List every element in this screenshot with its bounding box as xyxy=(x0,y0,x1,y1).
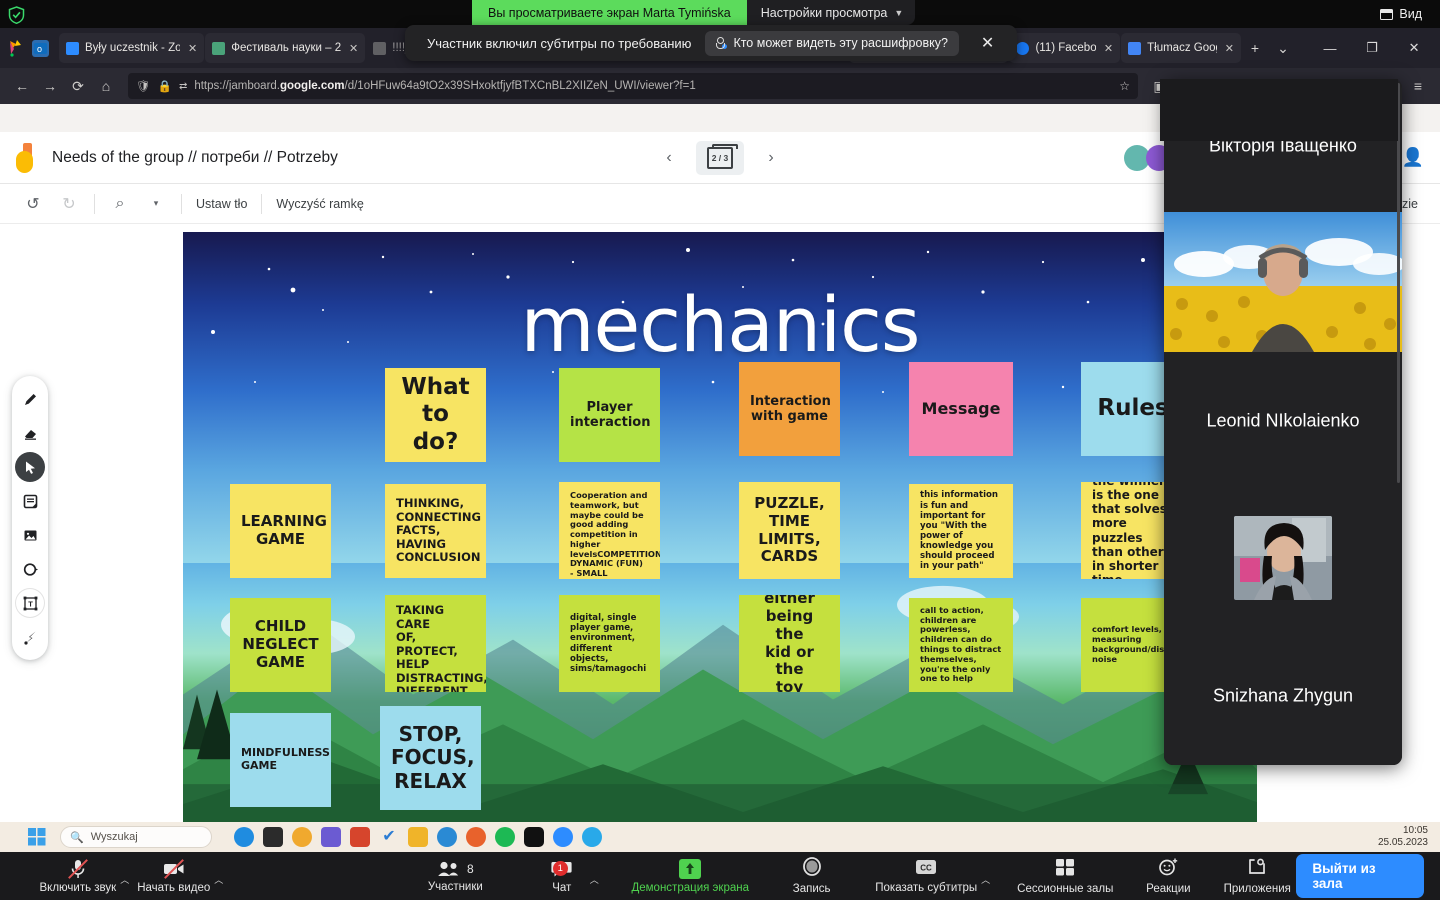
sticky-note-text: Player interaction xyxy=(570,400,649,431)
panel-scrollbar[interactable] xyxy=(1397,83,1400,483)
text-box-icon[interactable]: T xyxy=(15,588,45,618)
sticky-note-text: PUZZLE, TIME LIMITS, CARDS xyxy=(750,495,829,566)
participants-icon: 8 xyxy=(437,860,474,878)
tab-favicon xyxy=(212,42,225,55)
taskbar-clock[interactable]: 10:05 25.05.2023 xyxy=(1378,825,1428,850)
sticky-note[interactable]: PUZZLE, TIME LIMITS, CARDS xyxy=(739,482,840,579)
tab-label: Tłumacz Google xyxy=(1147,42,1217,54)
sticky-note-text: CHILD NEGLECT GAME xyxy=(241,618,320,671)
chat-button[interactable]: 1 Чат xyxy=(532,852,592,900)
view-settings-label: Настройки просмотра xyxy=(761,6,888,20)
tab-close-icon[interactable]: ✕ xyxy=(188,42,197,55)
sticky-note-text: LEARNING GAME xyxy=(241,513,320,548)
reactions-icon xyxy=(1157,857,1179,880)
reactions-label: Реакции xyxy=(1146,883,1190,895)
taskbar-search-input[interactable]: 🔍 Wyszukaj xyxy=(60,826,212,848)
windows-start-icon[interactable] xyxy=(28,828,46,846)
participants-count: 8 xyxy=(467,862,474,876)
sticky-note-text: the winner is the one that solves more p… xyxy=(1092,482,1174,579)
sticky-note[interactable]: Player interaction xyxy=(559,368,660,462)
tab-favicon xyxy=(1016,42,1029,55)
back-arrow-icon[interactable]: ← xyxy=(8,73,36,99)
reload-icon[interactable]: ⟳ xyxy=(64,73,92,99)
redo-icon[interactable]: ↻ xyxy=(58,194,80,214)
toolbar-right-label: zie xyxy=(1402,197,1418,211)
sticky-note[interactable]: CHILD NEGLECT GAME xyxy=(230,598,331,692)
windows-taskbar: 🔍 Wyszukaj ✔ 10:05 25.05.2023 xyxy=(0,822,1440,852)
tab-label: Były uczestnik - Zoom xyxy=(85,42,180,54)
person-add-icon xyxy=(716,37,727,49)
view-settings-button[interactable]: Настройки просмотра ▼ xyxy=(747,0,916,25)
sticky-note[interactable]: MINDFULNESS GAME xyxy=(230,713,331,807)
record-label: Запись xyxy=(793,883,831,895)
spotify-icon[interactable] xyxy=(495,827,515,847)
show-captions-button[interactable]: CC Показать субтитры xyxy=(869,852,983,900)
caption-toast-message: Участник включил субтитры по требованию xyxy=(427,36,691,51)
participant-name: Leonid NIkolaienko xyxy=(1164,410,1402,431)
file-explorer-icon[interactable] xyxy=(408,827,428,847)
close-icon[interactable]: ✕ xyxy=(981,33,994,53)
breakout-rooms-icon xyxy=(1054,857,1076,880)
jamboard-frame-pager: ‹ 2 / 3 › xyxy=(658,141,782,175)
apps-label: Приложения xyxy=(1224,883,1291,895)
sticky-note-text: Interaction with game xyxy=(750,394,829,425)
toolbar-divider xyxy=(261,194,262,214)
start-video-label: Начать видео xyxy=(137,882,210,894)
home-icon[interactable]: ⌂ xyxy=(92,73,120,99)
browser-tab[interactable]: Tłumacz Google ✕ xyxy=(1121,33,1241,63)
svg-text:o: o xyxy=(37,44,42,54)
sharing-status-label: Вы просматриваете экран Marta Tymińska xyxy=(472,0,747,25)
screen-sharing-banner: Вы просматриваете экран Marta Tymińska Н… xyxy=(472,0,915,25)
sticky-note[interactable]: call to action, children are powerless, … xyxy=(909,598,1013,692)
teams-icon[interactable] xyxy=(321,827,341,847)
sticky-note-text: call to action, children are powerless, … xyxy=(920,606,1002,684)
microphone-muted-icon xyxy=(67,859,89,879)
frame-bar-icon: 2 / 3 xyxy=(707,147,733,169)
tab-label: Фестиваль науки – 2022: xyxy=(231,42,341,54)
sticky-note-text: Rules xyxy=(1092,395,1174,422)
participant-name: Snizhana Zhygun xyxy=(1164,686,1402,707)
sticky-note[interactable]: Interaction with game xyxy=(739,362,840,456)
chat-unread-badge: 1 xyxy=(553,861,568,876)
participant-avatar xyxy=(1234,516,1332,600)
zoom-top-bar: Вы просматриваете экран Marta Tymińska Н… xyxy=(0,0,1440,28)
shape-circle-icon[interactable] xyxy=(15,554,45,584)
zoom-icon[interactable] xyxy=(553,827,573,847)
window-close-button[interactable]: ✕ xyxy=(1394,33,1434,63)
zoom-in-icon[interactable]: ⌕ xyxy=(109,195,131,213)
sticky-note[interactable]: TAKING CARE OF, PROTECT, HELP DISTRACTIN… xyxy=(385,595,486,692)
participant-tile[interactable]: Snizhana Zhygun xyxy=(1164,627,1402,765)
apps-button[interactable]: Приложения xyxy=(1218,852,1296,900)
sticky-note-text: either being the kid or the toy xyxy=(750,595,829,692)
camera-muted-icon xyxy=(162,859,186,879)
tab-favicon xyxy=(1128,42,1141,55)
participants-button[interactable]: 8 Участники xyxy=(422,852,488,900)
video-control-group: Начать видео ︿ xyxy=(131,852,225,900)
sticky-note[interactable]: LEARNING GAME xyxy=(230,484,331,578)
window-maximize-button[interactable]: ❐ xyxy=(1352,33,1392,63)
board-title: mechanics xyxy=(183,280,1257,369)
zoom-participant-panel[interactable]: Вікторія Іващенко xyxy=(1164,79,1402,765)
leave-meeting-button[interactable]: Выйти из зала xyxy=(1296,854,1424,898)
sticky-note[interactable]: digital, single player game, environment… xyxy=(559,595,660,692)
participant-tile-active[interactable] xyxy=(1164,212,1402,352)
frame-count-label: 2 / 3 xyxy=(712,153,729,163)
sticky-note[interactable]: Message xyxy=(909,362,1013,456)
forward-arrow-icon[interactable]: → xyxy=(36,73,64,99)
task-view-icon[interactable] xyxy=(263,827,283,847)
reactions-button[interactable]: Реакции xyxy=(1138,852,1198,900)
chat-control-group: 1 Чат ︿ xyxy=(532,852,601,900)
toolbar-divider xyxy=(94,194,95,214)
jamboard-logo-icon xyxy=(16,143,38,173)
address-bar[interactable]: 🛡 🔒 ⇄ https://jamboard.google.com/d/1oHF… xyxy=(128,73,1138,99)
view-button[interactable]: Вид xyxy=(1370,3,1432,25)
sticky-note[interactable]: What to do? xyxy=(385,368,486,462)
frame-indicator[interactable]: 2 / 3 xyxy=(696,141,744,175)
laser-pointer-icon[interactable] xyxy=(15,622,45,652)
sticky-note-text: digital, single player game, environment… xyxy=(570,613,649,674)
new-tab-button[interactable]: + xyxy=(1242,35,1268,61)
sticky-note-text: THINKING, CONNECTING FACTS, HAVING CONCL… xyxy=(396,497,475,565)
hamburger-menu-icon[interactable]: ≡ xyxy=(1404,73,1432,99)
clock-time: 10:05 xyxy=(1378,825,1428,838)
tab-list-chevron-down-icon[interactable]: ⌄ xyxy=(1270,35,1296,61)
participant-tile[interactable]: Leonid NIkolaienko xyxy=(1164,352,1402,489)
closed-captions-icon: CC xyxy=(913,858,939,879)
participants-label: Участники xyxy=(428,881,483,893)
url-text: https://jamboard.google.com/d/1oHFuw64a9… xyxy=(194,80,695,92)
audio-control-group: Включить звук ︿ xyxy=(33,852,131,900)
tab-close-icon[interactable]: ✕ xyxy=(1225,42,1234,55)
toolbar-divider xyxy=(181,194,182,214)
sticky-note[interactable]: Cooperation and teamwork, but maybe coul… xyxy=(559,482,660,579)
undo-icon[interactable]: ↺ xyxy=(22,194,44,214)
jamboard-user-avatar[interactable]: 👤 xyxy=(1402,147,1424,168)
unmute-label: Включить звук xyxy=(39,882,116,894)
participant-video xyxy=(1164,212,1402,352)
cursor-select-icon[interactable] xyxy=(15,452,45,482)
tab-label: (11) Facebook xyxy=(1035,42,1095,54)
participant-tile[interactable] xyxy=(1164,489,1402,627)
sticky-note-text: Message xyxy=(920,400,1002,419)
window-minimize-button[interactable]: — xyxy=(1310,33,1350,63)
bing-chat-icon[interactable] xyxy=(234,827,254,847)
browser-tab[interactable]: Były uczestnik - Zoom ✕ xyxy=(59,33,204,63)
prev-frame-chevron-left-icon[interactable]: ‹ xyxy=(658,149,680,167)
shield-check-icon[interactable] xyxy=(8,6,25,24)
start-video-button[interactable]: Начать видео xyxy=(131,852,216,900)
image-icon[interactable] xyxy=(15,520,45,550)
edge-icon[interactable] xyxy=(437,827,457,847)
sticky-note-text: Cooperation and teamwork, but maybe coul… xyxy=(570,491,649,579)
whatsapp-icon[interactable] xyxy=(524,827,544,847)
sticky-note-text: this information is fun and important fo… xyxy=(920,490,1002,571)
eraser-icon[interactable] xyxy=(15,418,45,448)
browser-tab[interactable]: (11) Facebook ✕ xyxy=(1009,33,1120,63)
breakout-rooms-button[interactable]: Сессионные залы xyxy=(1012,852,1119,900)
breakout-rooms-label: Сессионные залы xyxy=(1017,883,1113,895)
show-captions-label: Показать субтитры xyxy=(875,882,977,894)
search-placeholder: Wyszukaj xyxy=(91,831,138,843)
firefox-logo-icon xyxy=(8,39,26,57)
record-icon xyxy=(801,857,823,880)
sticky-note-text: TAKING CARE OF, PROTECT, HELP DISTRACTIN… xyxy=(396,604,475,692)
share-screen-icon xyxy=(679,859,701,879)
participant-name-overlay xyxy=(1160,79,1398,141)
chat-label: Чат xyxy=(552,882,571,894)
sticky-note-text: What to do? xyxy=(396,374,475,455)
pen-icon[interactable] xyxy=(15,384,45,414)
sticky-note[interactable]: STOP, FOCUS, RELAX xyxy=(380,706,481,810)
unmute-button[interactable]: Включить звук xyxy=(33,852,122,900)
weather-icon[interactable] xyxy=(292,827,312,847)
who-can-see-transcript-label: Кто может видеть эту расшифровку? xyxy=(733,36,947,50)
zoom-chevron-down-icon[interactable]: ▾ xyxy=(145,198,167,209)
tab-close-icon[interactable]: ✕ xyxy=(1104,42,1113,55)
microsoft-store-icon[interactable] xyxy=(350,827,370,847)
captions-control-group: CC Показать субтитры ︿ xyxy=(869,852,992,900)
taskbar-app-icons: ✔ xyxy=(234,827,602,847)
set-background-button[interactable]: Ustaw tło xyxy=(196,197,247,211)
tab-close-icon[interactable]: ✕ xyxy=(349,42,358,55)
browser-tab[interactable]: Фестиваль науки – 2022: ✕ xyxy=(205,33,365,63)
zoom-meeting-controls: Включить звук ︿ Начать видео ︿ 8 Участни… xyxy=(0,852,1440,900)
todo-check-icon[interactable]: ✔ xyxy=(379,827,399,847)
sticky-note[interactable]: THINKING, CONNECTING FACTS, HAVING CONCL… xyxy=(385,484,486,578)
clock-date: 25.05.2023 xyxy=(1378,837,1428,850)
record-button[interactable]: Запись xyxy=(782,852,842,900)
jamboard-canvas[interactable]: mechanics What to do?Player interactionI… xyxy=(183,232,1257,834)
tab-favicon xyxy=(66,42,79,55)
lock-icon: 🔒 xyxy=(158,79,172,93)
share-screen-button[interactable]: Демонстрация экрана xyxy=(626,852,754,900)
jamboard-tool-rail: T xyxy=(12,376,48,660)
sticky-note[interactable]: either being the kid or the toy xyxy=(739,595,840,692)
svg-text:T: T xyxy=(28,599,33,608)
pinned-tab-outlook[interactable]: o xyxy=(32,40,49,57)
firefox-icon[interactable] xyxy=(466,827,486,847)
tabstrip-controls: + ⌄ — ❐ ✕ xyxy=(1242,33,1440,63)
chevron-down-icon: ▼ xyxy=(894,8,903,18)
telegram-icon[interactable] xyxy=(582,827,602,847)
sticky-note-icon[interactable] xyxy=(15,486,45,516)
sticky-note-text: STOP, FOCUS, RELAX xyxy=(391,723,470,794)
sticky-note-text: comfort levels, measuring background/dis… xyxy=(1092,625,1174,664)
privacy-shield-icon[interactable]: 🛡 xyxy=(136,79,151,93)
sticky-note[interactable]: this information is fun and important fo… xyxy=(909,484,1013,578)
bookmark-star-icon[interactable]: ☆ xyxy=(1119,79,1130,93)
caption-notification-toast: Участник включил субтитры по требованию … xyxy=(405,25,1017,61)
svg-text:CC: CC xyxy=(920,864,932,873)
jamboard-title: Needs of the group // потреби // Potrzeb… xyxy=(52,149,338,167)
window-layout-icon xyxy=(1380,9,1393,20)
reader-view-icon[interactable]: ⇄ xyxy=(179,81,187,92)
view-button-label: Вид xyxy=(1399,7,1422,21)
tab-favicon xyxy=(373,42,386,55)
clear-frame-button[interactable]: Wyczyść ramkę xyxy=(276,197,363,211)
share-screen-label: Демонстрация экрана xyxy=(631,882,749,894)
sticky-note-text: MINDFULNESS GAME xyxy=(241,747,320,773)
apps-icon xyxy=(1246,857,1268,880)
search-icon: 🔍 xyxy=(70,831,84,844)
who-can-see-transcript-button[interactable]: Кто может видеть эту расшифровку? xyxy=(705,31,958,56)
chat-icon: 1 xyxy=(550,859,574,879)
next-frame-chevron-right-icon[interactable]: › xyxy=(760,149,782,167)
